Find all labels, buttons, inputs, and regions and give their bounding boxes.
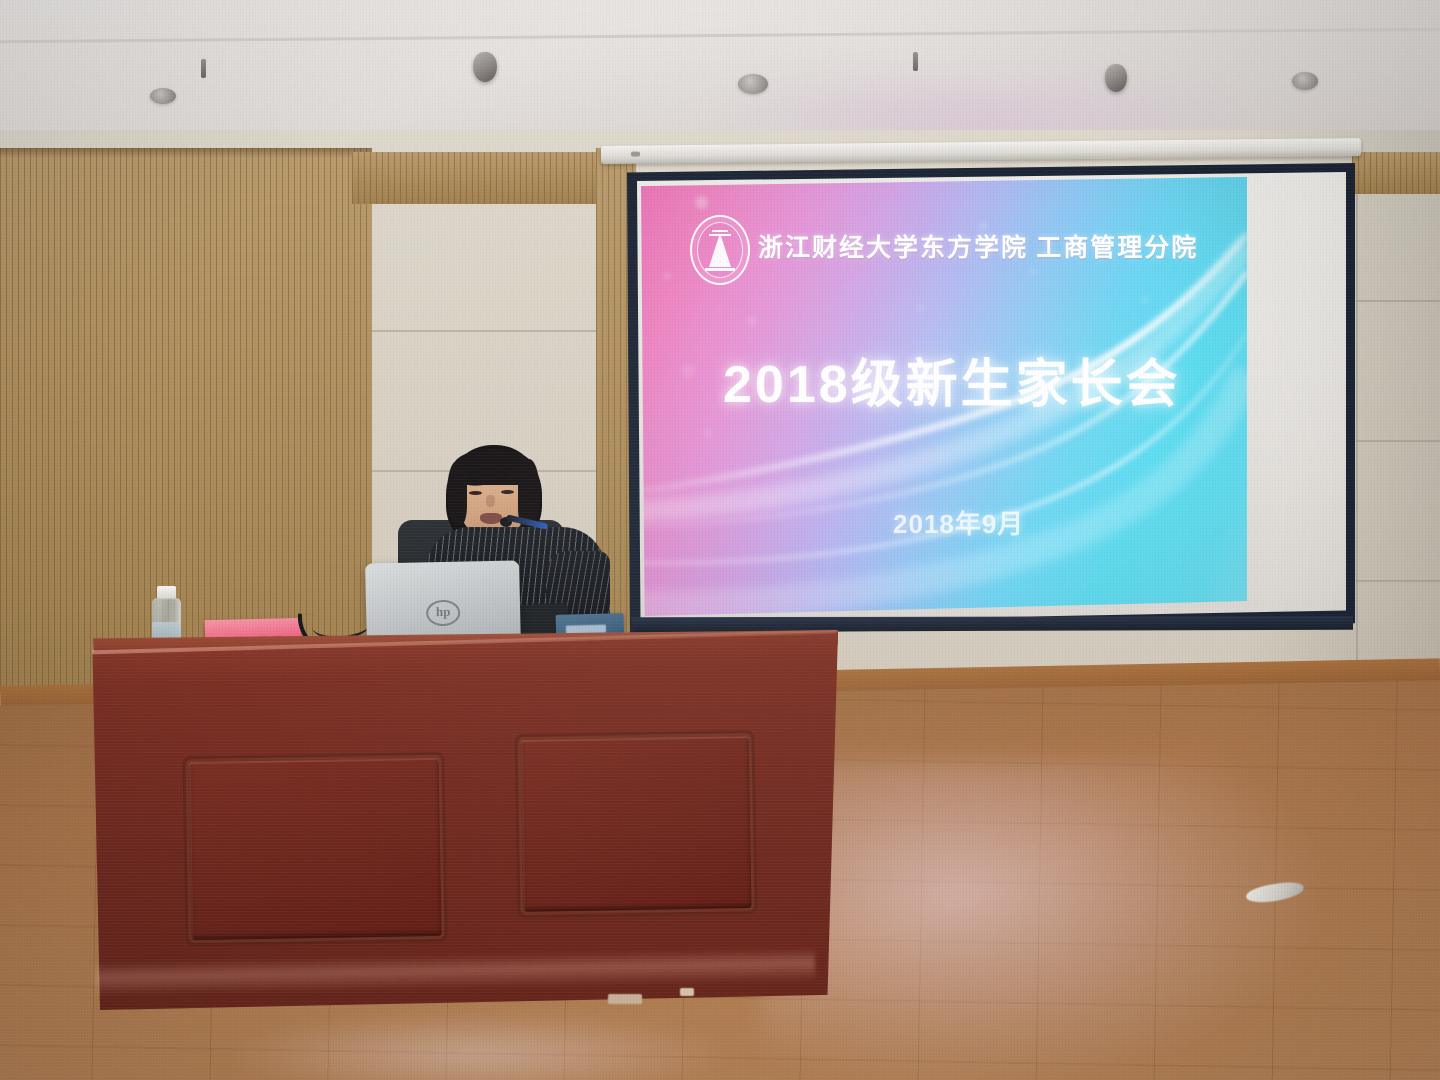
wall-seam xyxy=(1356,580,1440,582)
photo-scene: 浙江财经大学东方学院 工商管理分院 2018级新生家长会 2018年9月 xyxy=(0,0,1440,1080)
wall-seam xyxy=(372,330,632,332)
spotlight-icon xyxy=(473,52,497,82)
downlight-icon xyxy=(150,88,176,104)
seal-tower-shape xyxy=(709,233,731,267)
floor-light-reflection xyxy=(760,760,1320,1080)
floor-light-reflection xyxy=(220,1010,740,1080)
slat-wall-upper-left xyxy=(352,152,632,204)
slat-wall-right xyxy=(1352,152,1440,194)
roller-case-marking xyxy=(631,152,640,157)
eye-right xyxy=(501,490,514,494)
sprinkler-icon xyxy=(913,52,918,71)
university-seal-icon xyxy=(690,215,750,285)
wall-seam xyxy=(1356,160,1358,694)
spotlight-icon xyxy=(1105,64,1127,92)
slide-date-line: 2018年9月 xyxy=(893,504,1024,541)
podium-chip xyxy=(608,994,642,1004)
nose xyxy=(486,495,495,507)
downlight-icon xyxy=(738,74,768,94)
downlight-icon xyxy=(1292,72,1318,90)
podium-panel-right xyxy=(521,736,752,912)
seal-bar xyxy=(712,230,728,232)
projection-screen-weight-bar xyxy=(631,616,1353,632)
hair-side-left xyxy=(447,461,467,525)
slide-institution-line: 浙江财经大学东方学院 工商管理分院 xyxy=(758,228,1198,264)
slat-wall-shadow xyxy=(0,148,372,158)
wall-seam xyxy=(1356,440,1440,442)
podium-panel-left xyxy=(188,758,441,940)
sprinkler-icon xyxy=(201,59,206,78)
blue-device-label xyxy=(566,625,606,634)
mouth xyxy=(480,513,502,524)
eye-left xyxy=(469,491,482,495)
podium-chip xyxy=(680,988,694,996)
slide-main-title: 2018级新生家长会 xyxy=(723,342,1181,417)
slat-wall-left xyxy=(0,148,372,692)
wall-seam xyxy=(1356,300,1440,302)
seal-bar xyxy=(705,268,735,271)
seal-bar xyxy=(709,234,731,236)
hp-logo-icon: hp xyxy=(426,600,461,627)
